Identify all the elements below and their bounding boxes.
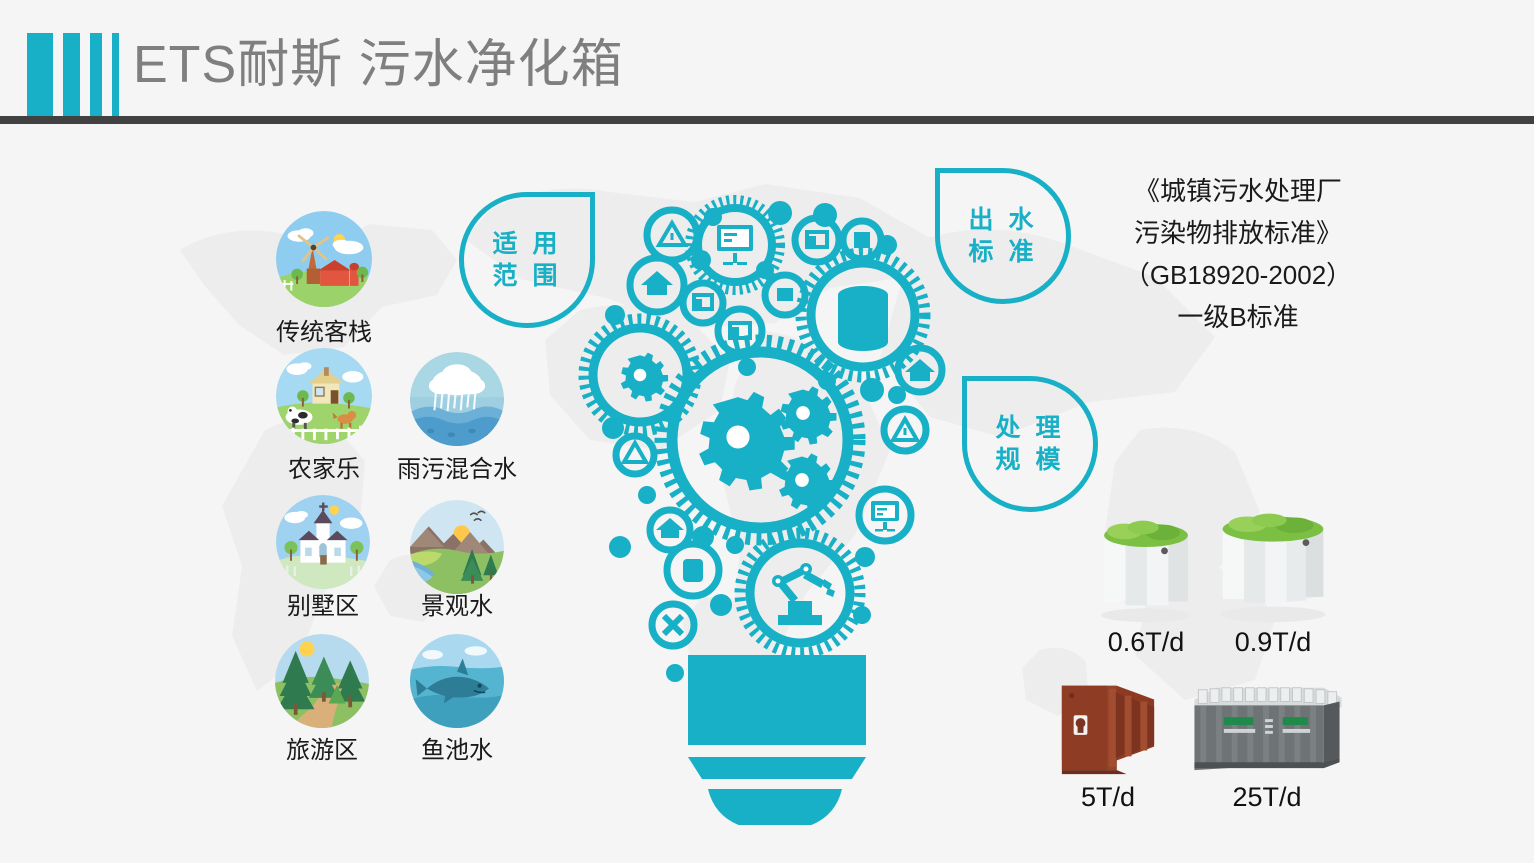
slide-canvas: ETS耐斯 污水净化箱 (0, 0, 1534, 863)
product-label-0-6t: 0.6T/d (1092, 627, 1200, 658)
product-label-5t: 5T/d (1052, 782, 1164, 813)
slide-header: ETS耐斯 污水净化箱 (0, 0, 1534, 118)
standard-line-4: 一级B标准 (1108, 296, 1368, 338)
callout-effluent-line2: 标 准 (969, 236, 1038, 268)
callout-effluent-standard[interactable]: 出 水 标 准 (935, 168, 1071, 304)
callout-scope-line1: 适 用 (493, 228, 562, 260)
rain-sewage-icon (410, 352, 504, 446)
lightbulb-gears-illustration (575, 185, 975, 825)
effluent-standard-text: 《城镇污水处理厂 污染物排放标准》 （GB18920-2002） 一级B标准 (1108, 170, 1368, 338)
scope-label-traditional-inn: 传统客栈 (276, 312, 372, 347)
callout-capacity-line2: 规 模 (996, 444, 1065, 476)
product-image-5t (1052, 674, 1164, 778)
header-bar-2 (63, 33, 80, 118)
product-label-25t: 25T/d (1188, 782, 1346, 813)
page-title: ETS耐斯 污水净化箱 (133, 30, 624, 100)
header-divider (0, 116, 1534, 124)
scope-label-tourist-area: 旅游区 (275, 730, 369, 765)
scope-label-villa-district: 别墅区 (276, 586, 370, 621)
header-bar-4 (112, 33, 119, 118)
scope-label-landscape-water: 景观水 (404, 586, 510, 621)
callout-scope[interactable]: 适 用 范 围 (459, 192, 595, 328)
forest-trail-icon (275, 634, 369, 728)
product-image-0-9t (1212, 500, 1334, 624)
header-accent-bars (27, 33, 119, 118)
product-label-0-9t: 0.9T/d (1212, 627, 1334, 658)
landscape-water-icon (410, 500, 504, 594)
standard-line-3: （GB18920-2002） (1108, 254, 1368, 296)
farmhouse-cow-icon (276, 348, 372, 444)
product-image-25t (1188, 676, 1346, 776)
scope-label-fish-pond-water: 鱼池水 (410, 730, 504, 765)
callout-effluent-line1: 出 水 (969, 204, 1038, 236)
villa-church-icon (276, 495, 370, 589)
scope-label-farmstay: 农家乐 (276, 449, 372, 484)
standard-line-2: 污染物排放标准》 (1108, 212, 1368, 254)
product-image-0-6t (1092, 508, 1200, 623)
header-bar-1 (27, 33, 53, 118)
callout-capacity[interactable]: 处 理 规 模 (962, 376, 1098, 512)
callout-capacity-line1: 处 理 (996, 412, 1065, 444)
callout-scope-line2: 范 围 (493, 260, 562, 292)
windmill-farm-icon (276, 211, 372, 307)
scope-label-rain-sewage: 雨污混合水 (396, 449, 518, 484)
header-bar-3 (90, 33, 102, 118)
standard-line-1: 《城镇污水处理厂 (1108, 170, 1368, 212)
fish-pond-icon (410, 634, 504, 728)
